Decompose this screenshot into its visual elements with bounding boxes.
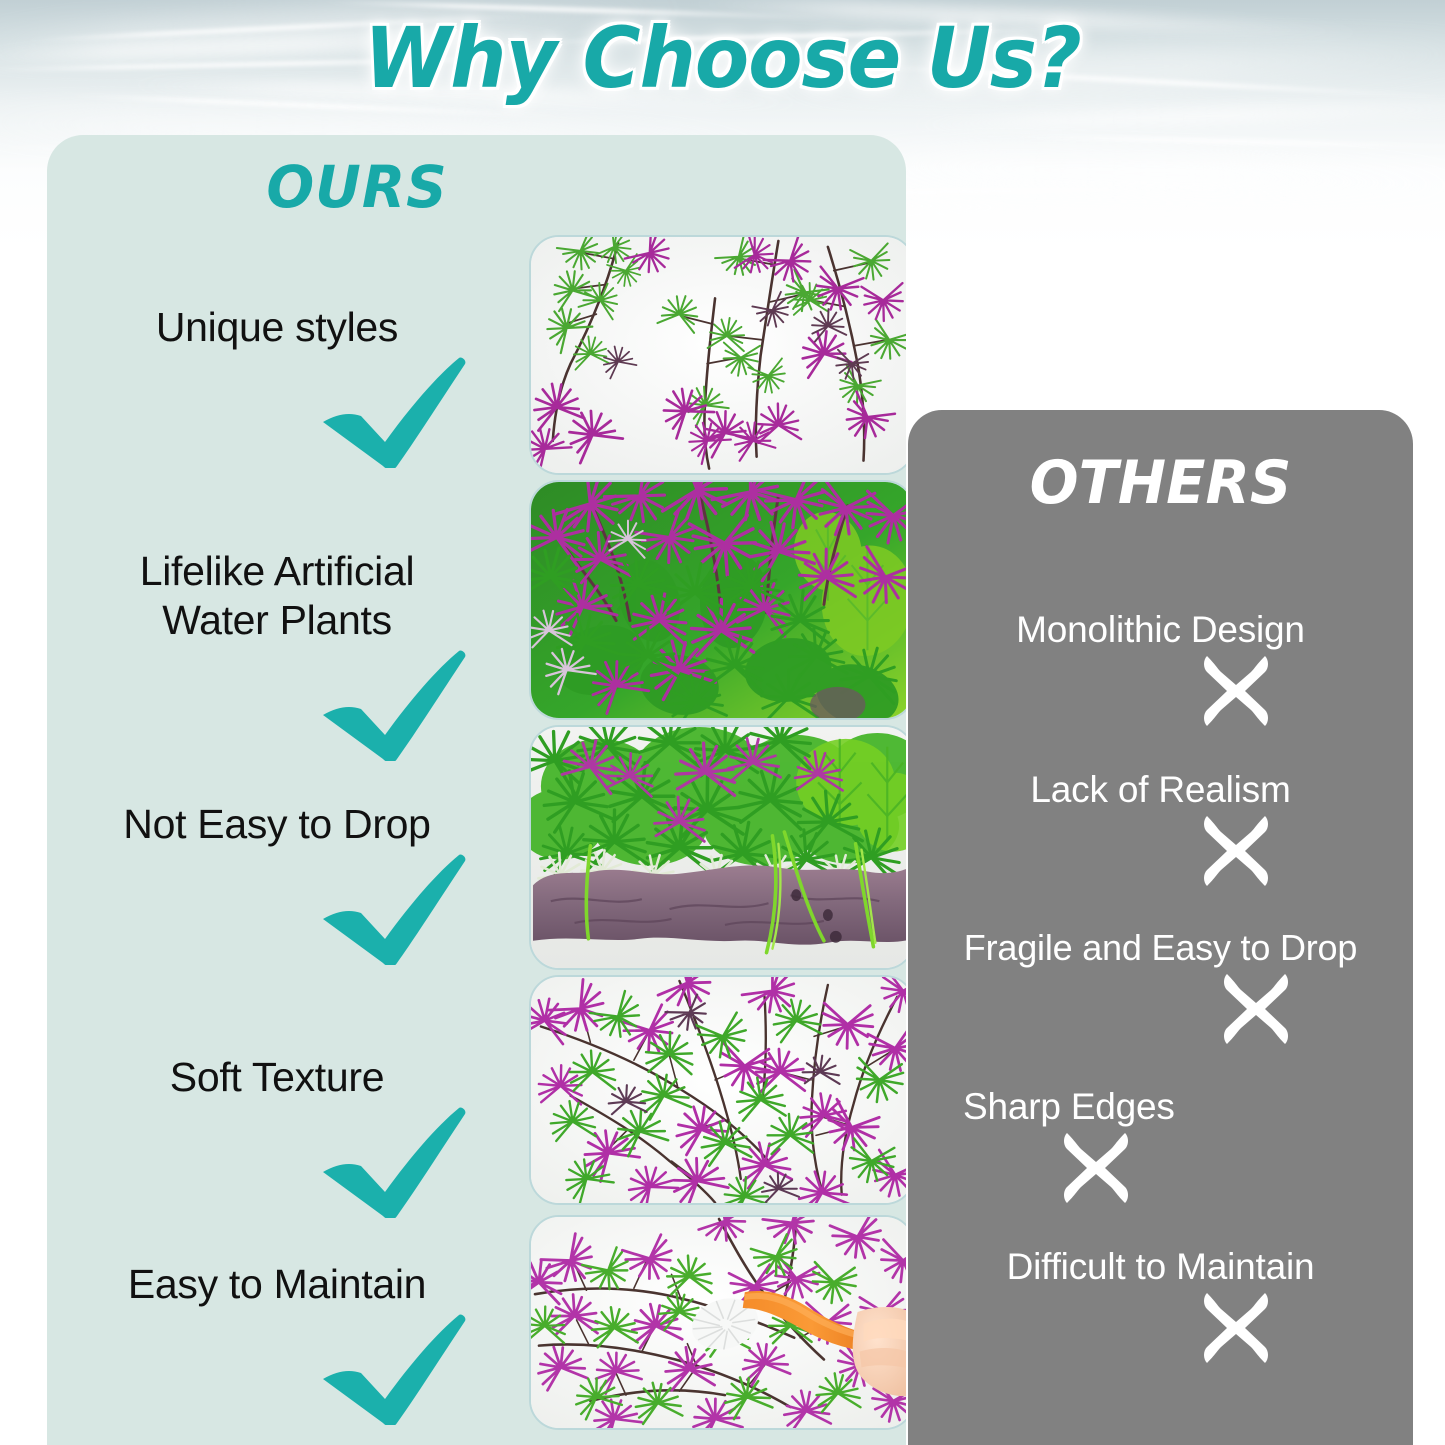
check-icon: [67, 1106, 487, 1218]
ours-panel: OURS Unique styles Lifelike Artificial W…: [47, 135, 906, 1445]
feature-label: Soft Texture: [67, 1053, 487, 1102]
check-icon: [67, 649, 487, 761]
feature-label: Not Easy to Drop: [67, 800, 487, 849]
feature-label: Easy to Maintain: [67, 1260, 487, 1309]
x-icon: [908, 814, 1413, 888]
x-icon: [908, 1131, 1413, 1205]
feature-row-not-easy-to-drop: Not Easy to Drop: [67, 800, 487, 965]
feature-label: Unique styles: [67, 303, 487, 352]
check-icon: [67, 853, 487, 965]
other-row-monolithic-design: Monolithic Design: [908, 608, 1413, 728]
photo-not-easy-to-drop: [529, 725, 906, 970]
photo-unique-styles: [529, 235, 906, 475]
feature-row-unique-styles: Unique styles: [67, 303, 487, 468]
other-row-sharp-edges: Sharp Edges: [908, 1085, 1413, 1205]
page-title: Why Choose Us?: [43, 8, 1401, 108]
feature-row-lifelike-plants: Lifelike Artificial Water Plants: [67, 547, 487, 761]
ours-heading: OURS: [56, 153, 657, 221]
others-panel: OTHERS Monolithic Design Lack of Realism…: [908, 410, 1413, 1445]
feature-row-soft-texture: Soft Texture: [67, 1053, 487, 1218]
photo-soft-texture: [529, 975, 906, 1205]
feature-label: Lifelike Artificial Water Plants: [67, 547, 487, 645]
check-icon: [67, 356, 487, 468]
other-label: Fragile and Easy to Drop: [908, 926, 1413, 970]
x-icon: [908, 972, 1413, 1046]
other-row-fragile-easy-to-drop: Fragile and Easy to Drop: [908, 926, 1413, 1046]
other-row-lack-of-realism: Lack of Realism: [908, 768, 1413, 888]
other-label: Sharp Edges: [908, 1085, 1413, 1129]
x-icon: [908, 1291, 1413, 1365]
other-row-difficult-to-maintain: Difficult to Maintain: [908, 1245, 1413, 1365]
photo-easy-to-maintain: [529, 1215, 906, 1430]
x-icon: [908, 654, 1413, 728]
photo-lifelike-plants: [529, 480, 906, 720]
feature-row-easy-to-maintain: Easy to Maintain: [67, 1260, 487, 1425]
other-label: Monolithic Design: [908, 608, 1413, 652]
other-label: Lack of Realism: [908, 768, 1413, 812]
other-label: Difficult to Maintain: [908, 1245, 1413, 1289]
others-heading: OTHERS: [918, 448, 1403, 518]
check-icon: [67, 1313, 487, 1425]
